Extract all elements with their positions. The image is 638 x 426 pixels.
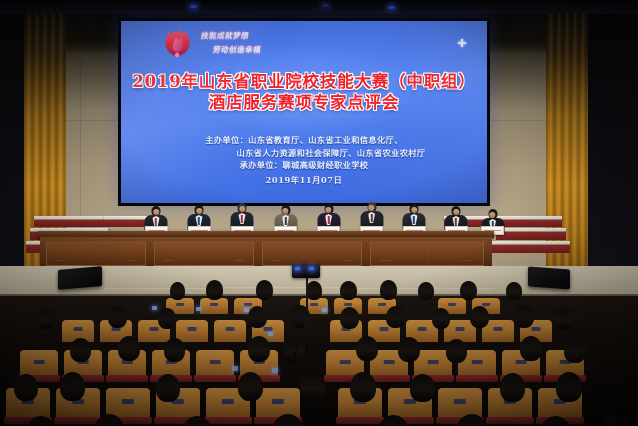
screen-subtitle-block: 主办单位：山东省教育厅、山东省工业和信息化厅、 山东省人力资源和社会保障厅、山东… — [121, 134, 487, 186]
seat-back — [176, 320, 208, 342]
seat-cushion — [336, 417, 384, 424]
seat-cushion — [486, 417, 534, 424]
seat-cushion — [194, 375, 236, 382]
phone-screen-glow — [232, 366, 238, 371]
seat-cushion — [456, 375, 498, 382]
auditorium-scene: 技能成就梦想 劳动创造幸福 2019年山东省职业院校技能大赛（中职组） 酒店服务… — [0, 0, 638, 426]
organizer-line-2: 山东省人力资源和社会保障厅、山东省农业农村厅 — [121, 147, 487, 160]
audience-head — [564, 338, 586, 363]
audience-head — [118, 336, 140, 361]
audience-head — [418, 282, 434, 300]
seat-back — [196, 350, 234, 378]
choir-riser-face — [34, 219, 104, 227]
audience-head — [238, 372, 263, 401]
audience-head — [340, 307, 359, 329]
tie — [327, 216, 329, 224]
audience-head — [500, 373, 525, 402]
seat-number-tag — [264, 327, 273, 331]
seat-back — [200, 298, 228, 314]
phone-screen-glow — [272, 368, 278, 373]
audience-head — [380, 280, 397, 300]
seat-number-tag — [428, 360, 439, 364]
projection-screen-frame: 技能成就梦想 劳动创造幸福 2019年山东省职业院校技能大赛（中职组） 酒店服务… — [118, 18, 490, 206]
stage-monitor-speaker-left — [58, 266, 102, 290]
tie — [155, 218, 157, 226]
seat-number-tag — [244, 303, 252, 306]
audience-head — [158, 308, 176, 329]
ceiling-light-glint — [388, 6, 395, 9]
table-panel-diamond — [189, 249, 220, 260]
audience-head — [36, 308, 54, 329]
tie — [370, 214, 372, 222]
audience-head — [520, 336, 542, 361]
audience-seat — [176, 320, 208, 342]
screen-title-line-2: 酒店服务赛项专家点评会 — [121, 92, 487, 113]
seat-number-tag — [188, 327, 197, 331]
seat-number-tag — [494, 327, 503, 331]
table-panel — [262, 241, 362, 266]
audience-head — [156, 374, 180, 402]
seat-number-tag — [176, 303, 184, 306]
floor-cable — [224, 287, 344, 288]
phone-screen-glow — [196, 307, 201, 311]
audience-head — [170, 282, 185, 300]
seat-number-tag — [380, 327, 389, 331]
audience-head — [470, 306, 489, 328]
seat-number-tag — [34, 360, 45, 364]
seat-number-tag — [122, 399, 134, 404]
seat-number-tag — [74, 327, 83, 331]
audience-head — [340, 281, 357, 300]
seat-number-tag — [226, 327, 235, 331]
audience-head — [556, 372, 582, 402]
phone-screen-glow — [322, 308, 327, 312]
seat-number-tag — [344, 303, 352, 306]
event-date: 2019年11月07日 — [121, 174, 487, 187]
audience-head — [300, 373, 325, 401]
seat-number-tag — [210, 360, 221, 364]
audience-head — [206, 280, 223, 300]
choir-riser-face — [496, 231, 566, 240]
seat-cushion — [106, 375, 148, 382]
organizer-line-1: 主办单位：山东省教育厅、山东省工业和信息化厅、 — [121, 134, 487, 147]
seat-number-tag — [448, 303, 456, 306]
table-panel-diamond — [81, 249, 112, 260]
crosshair-cursor-icon — [458, 39, 466, 47]
seat-number-tag — [454, 399, 466, 404]
audience-seat — [214, 320, 246, 342]
table-panel-diamond — [410, 249, 446, 260]
seat-number-tag — [222, 399, 234, 404]
ceiling-light-glint — [322, 4, 329, 7]
tie — [198, 217, 200, 225]
tie — [413, 216, 415, 224]
audience-head — [70, 338, 91, 362]
stage-side-dark-right — [588, 14, 638, 266]
stage-side-dark-left — [0, 14, 26, 266]
audience-head — [256, 280, 273, 300]
logo-calligraphy-line-1: 技能成就梦想 — [200, 30, 312, 41]
seat-number-tag — [210, 303, 218, 306]
tie — [284, 217, 286, 225]
screen-title-line-1: 2019年山东省职业院校技能大赛（中职组） — [121, 71, 487, 92]
audience-head — [446, 339, 467, 363]
audience-head — [248, 306, 267, 328]
seat-number-tag — [418, 327, 427, 331]
seat-number-tag — [384, 360, 395, 364]
projection-screen: 技能成就梦想 劳动创造幸福 2019年山东省职业院校技能大赛（中职组） 酒店服务… — [121, 21, 487, 203]
seat-cushion — [204, 417, 252, 424]
phone-screen-glow — [268, 332, 273, 336]
seat-number-tag — [472, 360, 483, 364]
audience-head — [350, 372, 376, 402]
tie — [241, 215, 243, 223]
table-panel — [370, 241, 484, 266]
audience-head — [460, 281, 477, 300]
audience-head — [554, 308, 573, 330]
audience-head — [164, 338, 185, 362]
table-panel-diamond — [297, 249, 328, 260]
audience-head — [398, 337, 420, 362]
audience-head — [600, 414, 632, 426]
audience-area — [0, 296, 638, 426]
logo-calligraphy: 技能成就梦想 劳动创造幸福 — [199, 30, 311, 58]
seat-number-tag — [378, 303, 386, 306]
camera-led-icon — [309, 267, 314, 270]
camera-led-icon — [295, 267, 300, 270]
seat-number-tag — [482, 303, 490, 306]
choir-riser-face — [500, 219, 562, 227]
audience-seat — [196, 350, 234, 378]
event-logo: 技能成就梦想 劳动创造幸福 — [161, 27, 311, 61]
stage-monitor-speaker-right — [528, 267, 570, 290]
screen-title-block: 2019年山东省职业院校技能大赛（中职组） 酒店服务赛项专家点评会 — [121, 71, 487, 113]
audience-head — [514, 305, 534, 328]
audience-head — [14, 374, 38, 401]
seat-number-tag — [150, 327, 159, 331]
audience-head — [432, 308, 450, 329]
audience-head — [386, 306, 405, 328]
audience-head — [410, 374, 435, 402]
seat-back — [214, 320, 246, 342]
table-panel — [154, 241, 254, 266]
logo-calligraphy-line-2: 劳动创造幸福 — [212, 44, 312, 55]
flame-emblem-icon — [161, 27, 195, 59]
audience-head — [60, 372, 85, 401]
host-line: 承办单位：聊城高级财经职业学校 — [121, 159, 487, 172]
audience-head — [248, 336, 270, 362]
seat-number-tag — [340, 360, 351, 364]
choir-riser-face — [492, 244, 570, 253]
audience-head — [108, 306, 127, 328]
seat-number-tag — [532, 327, 541, 331]
audience-head — [356, 336, 378, 361]
audience-seat — [200, 298, 228, 314]
seat-number-tag — [456, 327, 465, 331]
audience-head — [506, 282, 522, 300]
seat-number-tag — [272, 399, 284, 404]
seat-number-tag — [310, 303, 318, 306]
video-camera — [292, 264, 320, 278]
audience-head — [306, 281, 322, 300]
table-panel — [46, 241, 146, 266]
tie — [455, 218, 457, 226]
ceiling-light-glint — [190, 5, 197, 8]
phone-screen-glow — [152, 306, 157, 310]
